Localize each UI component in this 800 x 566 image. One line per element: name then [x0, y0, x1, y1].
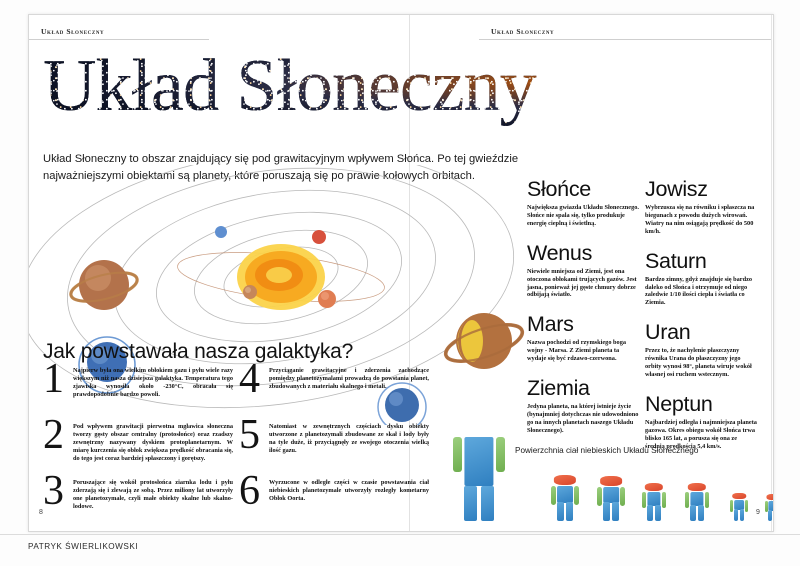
figure-torso [647, 492, 660, 506]
planet-figure-icon [453, 437, 505, 521]
figure-leg [655, 505, 661, 521]
planet-name: Ziemia [527, 376, 639, 401]
figure-torso [557, 486, 573, 503]
figure-leg [481, 486, 493, 521]
figure-arm [496, 437, 505, 472]
planet-entry-saturn: Saturn Bardzo zimny, gdyż znajduje się b… [645, 249, 757, 308]
figure-leg [464, 486, 476, 521]
planet-figure-icon [765, 494, 774, 521]
running-head-left: Układ Słoneczny [41, 27, 104, 36]
step-number: 5 [239, 414, 260, 456]
author-credit: PATRYK ŚWIERLIKOWSKI [28, 542, 138, 551]
chart-bar: Wenus12 104 km [765, 494, 774, 521]
figure-torso [464, 437, 493, 486]
chart-bar: Uran51 118 km [642, 483, 666, 521]
list-item: 6 Wyrzucone w odległe części w czasie po… [239, 479, 435, 529]
figure-head [688, 483, 706, 491]
planet-figure-icon [642, 483, 666, 521]
figure-head [766, 494, 774, 500]
chart-bar: Saturn140 536 km [597, 476, 625, 521]
saturn-left [68, 260, 140, 310]
earth-body [215, 226, 227, 238]
chart-bar: Słońce1 400 000 km [453, 437, 505, 521]
figure-arm [642, 492, 646, 508]
step-text: Natomiast w zewnętrznych częściach dysku… [269, 423, 435, 455]
planet-column-right: Jowisz Wybrzusza się na równiku i spłasz… [645, 177, 757, 464]
figure-leg [768, 510, 772, 521]
step-number: 1 [43, 358, 64, 400]
footer-rule [0, 534, 800, 535]
step-number: 2 [43, 414, 64, 456]
spread-frame: Układ Słoneczny Układ Słoneczny Układ Sł… [28, 14, 774, 532]
planet-entry-mars: Mars Nazwa pochodzi od rzymskiego boga w… [527, 312, 639, 363]
chart-bar: Ziemia12 756 km [730, 493, 747, 521]
planet-figure-icon [551, 475, 580, 521]
planet-entry-uran: Uran Przez to, że nachylenie płaszczyzny… [645, 320, 757, 379]
figure-leg [603, 502, 610, 521]
planet-name: Mars [527, 312, 639, 337]
step-text: Najpierw była ona wielkim obłokiem gazu … [73, 367, 239, 399]
figure-head [732, 493, 746, 499]
step-text: Pod wpływem grawitacji pierwotna mgławic… [73, 423, 239, 463]
figure-head [600, 476, 622, 486]
figure-head [645, 483, 663, 491]
size-comparison-chart: Powierzchnia ciał niebieskich Układu Sło… [443, 435, 773, 532]
planet-name: Jowisz [645, 177, 757, 202]
step-text: Przyciąganie grawitacyjne i zderzenia za… [269, 367, 435, 391]
step-number: 6 [239, 470, 260, 512]
planet-description: Niewiele mniejsza od Ziemi, jest ona oto… [527, 268, 639, 300]
galaxy-section-heading: Jak powstawała nasza galaktyka? [43, 340, 353, 364]
running-head-right: Układ Słoneczny [491, 27, 554, 36]
figure-arm [730, 500, 733, 512]
planet-description: Wybrzusza się na równiku i spłaszcza na … [645, 204, 757, 236]
planet-entry-ziemia: Ziemia Jedyna planeta, na której istniej… [527, 376, 639, 435]
figure-arm [597, 487, 602, 506]
chart-bar: Jowisz142 984 km [551, 475, 580, 521]
figure-leg [647, 505, 653, 521]
planet-figure-icon [597, 476, 625, 521]
folio-left: 8 [39, 509, 43, 516]
planet-name: Neptun [645, 392, 757, 417]
step-text: Poruszające się wokół protosłońca ziarnk… [73, 479, 239, 511]
planet-entry-wenus: Wenus Niewiele mniejsza od Ziemi, jest o… [527, 241, 639, 300]
figure-leg [612, 502, 619, 521]
planet-description: Największa gwiazda Układu Słonecznego. S… [527, 204, 639, 228]
figure-arm [453, 437, 462, 472]
running-head-rule-left [29, 39, 209, 40]
figure-leg [557, 502, 564, 521]
steps-column-right: 4 Przyciąganie grawitacyjne i zderzenia … [239, 367, 435, 532]
planet-column-left: Słońce Największa gwiazda Układu Słonecz… [527, 177, 639, 448]
folio-right: 9 [756, 509, 760, 516]
figure-leg [740, 509, 744, 521]
figure-arm [620, 487, 625, 506]
step-text: Wyrzucone w odległe części w czasie pows… [269, 479, 435, 503]
figure-arm [705, 492, 709, 508]
figure-arm [745, 500, 748, 512]
figure-torso [603, 487, 619, 503]
saturn-right [442, 313, 527, 369]
figure-arm [765, 501, 768, 512]
planet-entry-slonce: Słońce Największa gwiazda Układu Słonecz… [527, 177, 639, 228]
list-item: 5 Natomiast w zewnętrznych częściach dys… [239, 423, 435, 473]
figure-arm [662, 492, 666, 508]
step-number: 4 [239, 358, 260, 400]
figure-arm [685, 492, 689, 508]
figure-leg [566, 502, 573, 521]
chart-bar-group: Słońce1 400 000 kmJowisz142 984 kmSaturn… [443, 437, 773, 521]
running-head-rule-right [479, 39, 771, 40]
planet-name: Słońce [527, 177, 639, 202]
list-item: 1 Najpierw była ona wielkim obłokiem gaz… [43, 367, 239, 417]
steps-column-left: 1 Najpierw była ona wielkim obłokiem gaz… [43, 367, 239, 532]
planet-description: Przez to, że nachylenie płaszczyzny równ… [645, 347, 757, 379]
planet-description: Bardzo zimny, gdyż znajduje się bardzo d… [645, 276, 757, 308]
figure-leg [734, 509, 738, 521]
figure-leg [690, 505, 696, 521]
page-title: Układ Słoneczny [43, 43, 763, 129]
list-item: 2 Pod wpływem grawitacji pierwotna mgław… [43, 423, 239, 473]
figure-leg [698, 505, 704, 521]
title-block: Układ Słoneczny [43, 43, 763, 133]
magazine-spread-page: Układ Słoneczny Układ Słoneczny Układ Sł… [0, 0, 800, 566]
planet-figure-icon [685, 483, 709, 521]
sun-body [237, 244, 325, 310]
planet-description: Nazwa pochodzi od rzymskiego boga wojny … [527, 339, 639, 363]
figure-torso [690, 492, 703, 506]
planet-name: Uran [645, 320, 757, 345]
figure-head [554, 475, 576, 485]
figure-arm [574, 486, 579, 505]
planet-name: Wenus [527, 241, 639, 266]
list-item: 3 Poruszające się wokół protosłońca ziar… [43, 479, 239, 529]
planet-description: Jedyna planeta, na której istnieje życie… [527, 403, 639, 435]
step-number: 3 [43, 470, 64, 512]
figure-arm [551, 486, 556, 505]
planet-figure-icon [730, 493, 747, 521]
planet-entry-jowisz: Jowisz Wybrzusza się na równiku i spłasz… [645, 177, 757, 236]
mars-body [312, 230, 326, 244]
planet-name: Saturn [645, 249, 757, 274]
list-item: 4 Przyciąganie grawitacyjne i zderzenia … [239, 367, 435, 417]
chart-bar: Neptun49 532 km [685, 483, 709, 521]
